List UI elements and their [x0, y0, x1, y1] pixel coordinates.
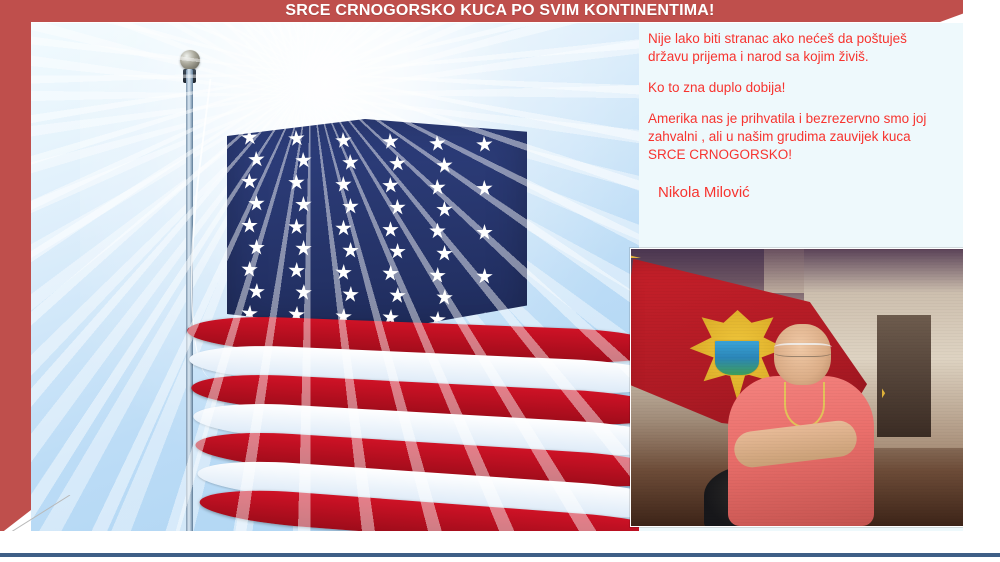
flag-star — [288, 262, 306, 280]
flag-star — [342, 153, 360, 171]
flag-star — [295, 240, 312, 257]
flag-star — [429, 178, 447, 196]
flag-star — [335, 264, 353, 282]
flag-star — [295, 152, 313, 170]
flag-star — [295, 284, 313, 302]
flag-star — [476, 268, 494, 286]
flag-star — [382, 221, 399, 238]
portrait-photo — [630, 248, 965, 527]
footer-rule — [0, 553, 1000, 557]
flag-star — [241, 261, 259, 279]
flag-star — [342, 198, 359, 215]
flag-star — [389, 199, 406, 216]
flag-star — [288, 174, 306, 192]
flag-star — [436, 244, 453, 261]
flag-star — [475, 135, 493, 153]
slide-root: Nije lako biti stranac ako nećeš da pošt… — [0, 0, 1000, 562]
flag-star — [241, 173, 259, 191]
flag-star — [428, 134, 446, 152]
flag-star — [334, 131, 352, 149]
right-margin — [963, 0, 1000, 553]
flag-star — [382, 177, 400, 195]
flag-star — [389, 155, 407, 173]
flag-star — [436, 288, 454, 306]
author-signature: Nikola Milović — [658, 184, 948, 202]
flag-stars — [227, 119, 527, 331]
flag-star — [436, 156, 454, 174]
flag-star — [241, 217, 258, 234]
flag-star — [389, 243, 406, 260]
flag-star — [436, 200, 453, 217]
flag-star — [476, 180, 494, 198]
photo-grain — [631, 249, 964, 526]
flag-star — [382, 265, 400, 283]
flag-star — [288, 218, 305, 235]
left-accent-band — [0, 0, 31, 534]
quotation-block: Nije lako biti stranac ako nećeš da pošt… — [648, 30, 948, 202]
flag-star — [381, 133, 399, 151]
flag-canton — [227, 119, 527, 331]
american-flag-photo — [31, 23, 639, 531]
flag-star — [248, 195, 265, 212]
flag-star — [335, 176, 353, 194]
flag-star — [389, 287, 407, 305]
flag-star — [287, 130, 305, 148]
flag-star — [248, 151, 266, 169]
flag-star — [248, 239, 265, 256]
flag-star — [295, 196, 312, 213]
flag-star — [429, 223, 446, 240]
quote-paragraph-3: Amerika nas je prihvatila i bezrezervno … — [648, 110, 948, 164]
flagpole-finial-icon — [180, 50, 200, 70]
flag-star — [248, 283, 266, 301]
quote-paragraph-1: Nije lako biti stranac ako nećeš da pošt… — [648, 30, 948, 66]
flag-star — [342, 242, 359, 259]
quote-paragraph-2: Ko to zna duplo dobija! — [648, 79, 948, 97]
flag-star — [476, 224, 493, 241]
flag-star — [342, 285, 360, 303]
flag-star — [335, 220, 352, 237]
page-title: SRCE CRNOGORSKO KUCA PO SVIM KONTINENTIM… — [0, 0, 1000, 22]
flag-star — [429, 266, 447, 284]
flag-stripes — [191, 323, 639, 531]
bottom-margin — [0, 531, 1000, 553]
